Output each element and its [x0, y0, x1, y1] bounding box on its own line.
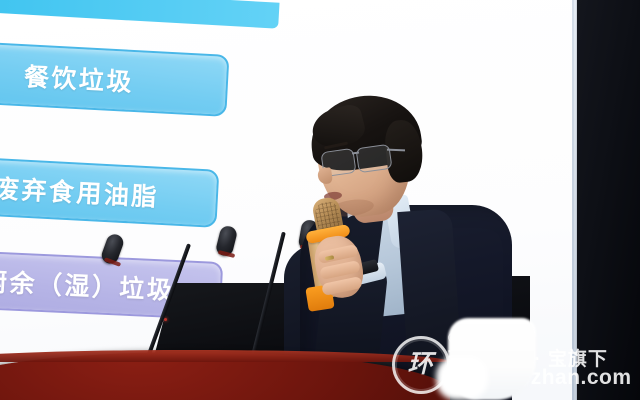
shoulder-highlight-blowout-2	[436, 356, 488, 400]
speaker-figure	[0, 0, 640, 400]
speaker-nose	[317, 167, 333, 185]
screenshot-root: 餐饮垃圾 废弃食用油脂 厨余（湿）垃圾	[0, 0, 640, 400]
